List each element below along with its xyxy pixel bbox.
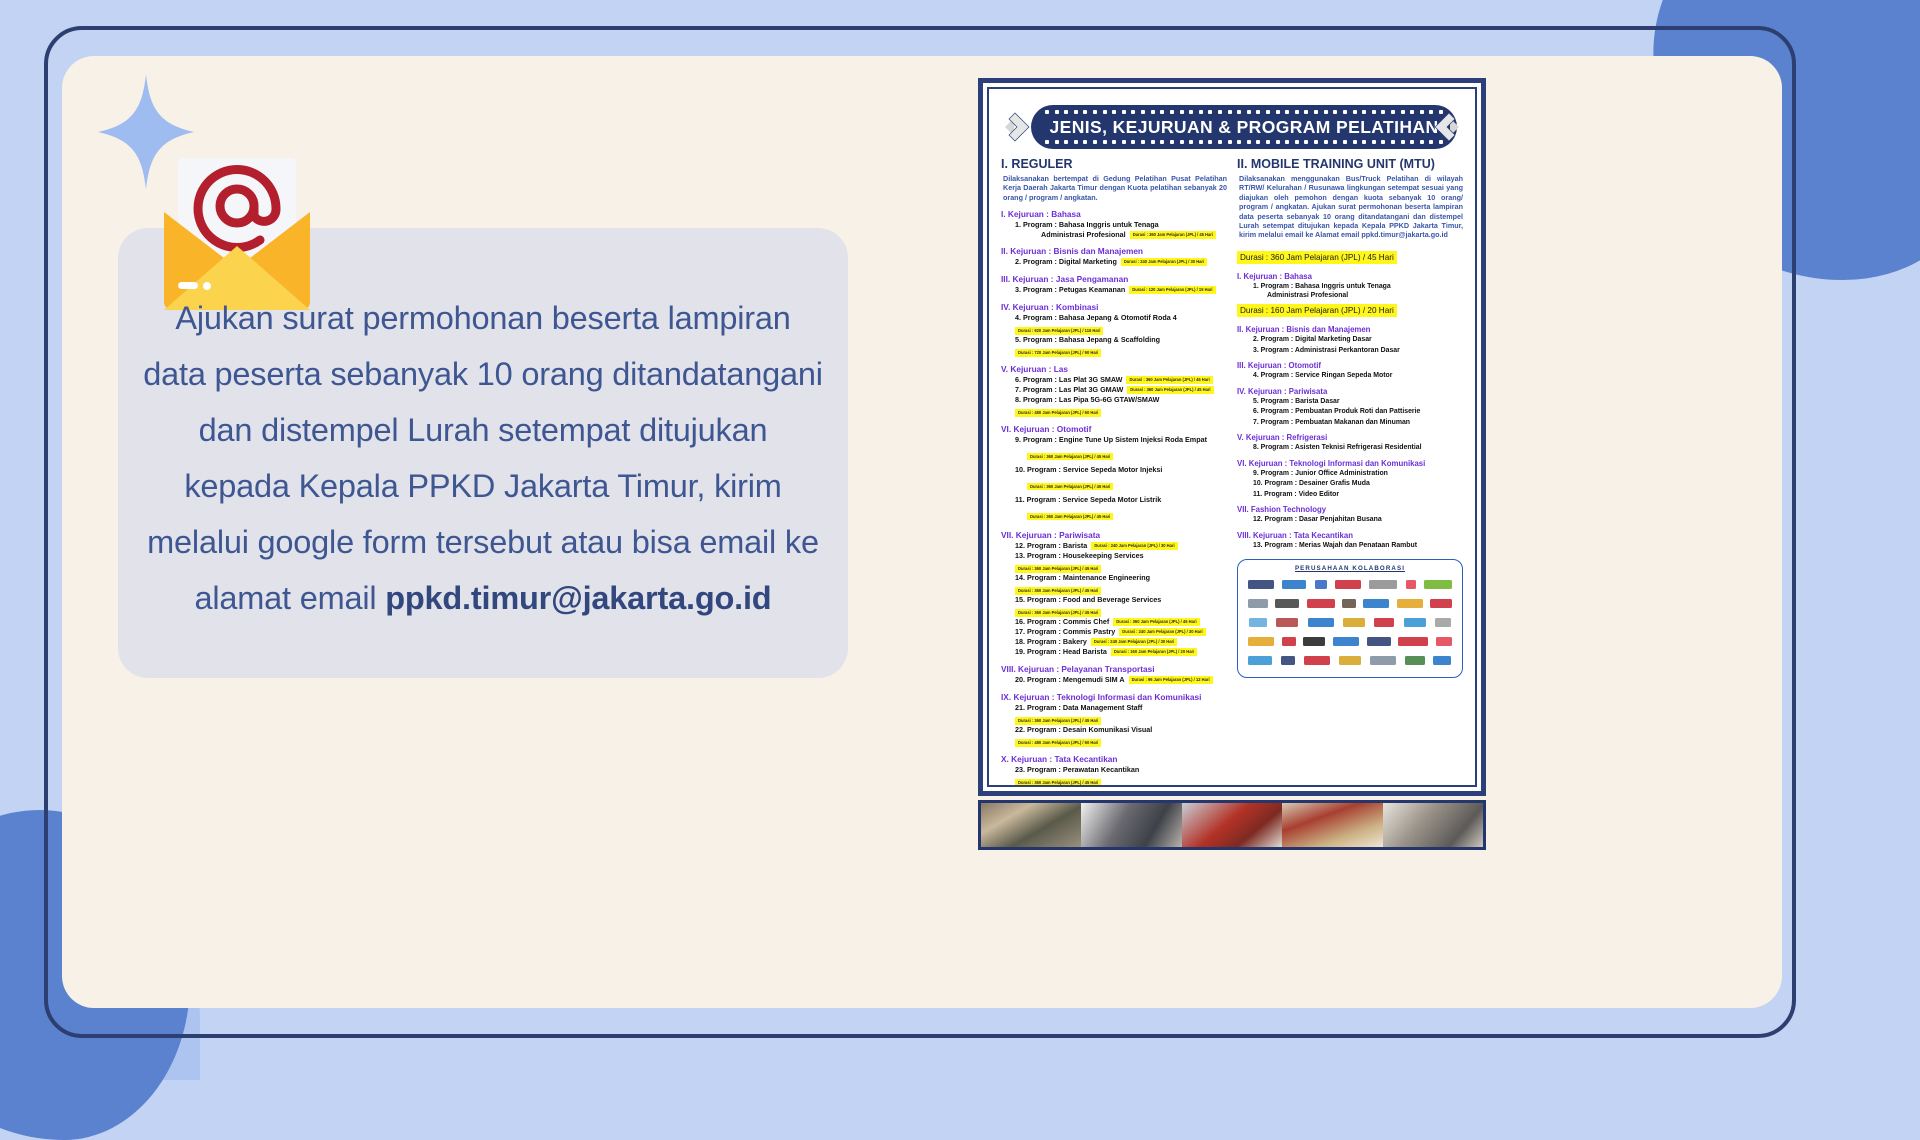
program-label: 14. Program : Maintenance Engineering bbox=[1015, 573, 1150, 583]
photo-classroom bbox=[981, 803, 1081, 847]
program-duration-badge: Durasi : 240 Jam Pelajaran (JPL) / 30 Ha… bbox=[1121, 258, 1207, 266]
program-duration-badge: Durasi : 240 Jam Pelajaran (JPL) / 30 Ha… bbox=[1119, 628, 1205, 636]
program-item: 6. Program : Las Plat 3G SMAWDurasi : 36… bbox=[1015, 375, 1227, 385]
program-label: 8. Program : Las Pipa 5G-6G GTAW/SMAW bbox=[1015, 395, 1159, 405]
program-duration-badge: Durasi : 240 Jam Pelajaran (JPL) / 30 Ha… bbox=[1091, 638, 1177, 646]
program-duration-badge: Durasi : 96 Jam Pelajaran (JPL) / 12 Har… bbox=[1129, 676, 1213, 684]
program-duration-badge: Durasi : 360 Jam Pelajaran (JPL) / 45 Ha… bbox=[1130, 231, 1216, 239]
partner-logo bbox=[1282, 637, 1296, 646]
program-item: 17. Program : Commis PastryDurasi : 240 … bbox=[1015, 627, 1227, 637]
program-label: 10. Program : Service Sepeda Motor Injek… bbox=[1015, 465, 1162, 475]
partner-logos-title: PERUSAHAAN KOLABORASI bbox=[1244, 565, 1456, 572]
email-address: ppkd.timur@jakarta.go.id bbox=[385, 580, 771, 616]
kejuruan-heading: II. Kejuruan : Bisnis dan Manajemen bbox=[1001, 246, 1227, 256]
partner-logo bbox=[1370, 656, 1396, 665]
reguler-description: Dilaksanakan bertempat di Gedung Pelatih… bbox=[1003, 174, 1227, 202]
poster-banner: JENIS, KEJURUAN & PROGRAM PELATIHAN bbox=[989, 105, 1475, 151]
program-duration-badge: Durasi : 240 Jam Pelajaran (JPL) / 30 Ha… bbox=[1091, 542, 1177, 550]
kejuruan-heading: III. Kejuruan : Jasa Pengamanan bbox=[1001, 274, 1227, 284]
program-label: 10. Program : Desainer Grafis Muda bbox=[1253, 479, 1370, 490]
partner-logo bbox=[1249, 618, 1267, 627]
program-duration-row: Durasi : 360 Jam Pelajaran (JPL) / 45 Ha… bbox=[1027, 445, 1227, 463]
partner-logo bbox=[1335, 580, 1361, 589]
poster-banner-pill: JENIS, KEJURUAN & PROGRAM PELATIHAN bbox=[1031, 105, 1457, 149]
program-duration-badge: Durasi : 160 Jam Pelajaran (JPL) / 20 Ha… bbox=[1111, 648, 1197, 656]
paragraph-line-4: kepada Kepala PPKD Jakarta Timur, kirim bbox=[130, 458, 836, 514]
program-label: 18. Program : Bakery bbox=[1015, 637, 1087, 647]
kejuruan-heading: IX. Kejuruan : Teknologi Informasi dan K… bbox=[1001, 692, 1227, 702]
mtu-durasi-1: Durasi : 360 Jam Pelajaran (JPL) / 45 Ha… bbox=[1237, 251, 1397, 264]
partner-logo bbox=[1430, 599, 1452, 608]
partner-logo bbox=[1369, 580, 1397, 589]
mtu-group-list-b: II. Kejuruan : Bisnis dan Manajemen2. Pr… bbox=[1237, 325, 1463, 551]
program-label: 11. Program : Video Editor bbox=[1253, 490, 1339, 501]
partner-logo bbox=[1374, 618, 1394, 627]
partner-logo bbox=[1363, 599, 1389, 608]
program-item: 7. Program : Las Plat 3G GMAWDurasi : 36… bbox=[1015, 385, 1227, 395]
program-item: 3. Program : Administrasi Perkantoran Da… bbox=[1253, 346, 1463, 357]
program-item: 8. Program : Asisten Teknisi Refrigerasi… bbox=[1253, 443, 1463, 454]
partner-logo bbox=[1339, 656, 1361, 665]
program-label: 6. Program : Las Plat 3G SMAW bbox=[1015, 375, 1122, 385]
program-item: 16. Program : Commis ChefDurasi : 360 Ja… bbox=[1015, 617, 1227, 627]
program-label: 5. Program : Bahasa Jepang & Scaffolding bbox=[1015, 335, 1160, 345]
program-duration-badge: Durasi : 720 Jam Pelajaran (JPL) / 90 Ha… bbox=[1015, 349, 1101, 357]
program-item: 5. Program : Barista Dasar bbox=[1253, 397, 1463, 408]
kejuruan-heading: I. Kejuruan : Bahasa bbox=[1001, 209, 1227, 219]
program-item: 13. Program : Housekeeping ServicesDuras… bbox=[1015, 551, 1227, 573]
program-item: 10. Program : Service Sepeda Motor Injek… bbox=[1015, 465, 1227, 475]
reguler-heading: I. REGULER bbox=[1001, 157, 1227, 171]
program-label: 13. Program : Housekeeping Services bbox=[1015, 551, 1144, 561]
photo-ceremony bbox=[1081, 803, 1181, 847]
program-duration-row: Durasi : 360 Jam Pelajaran (JPL) / 45 Ha… bbox=[1027, 475, 1227, 493]
partner-logos-panel: PERUSAHAAN KOLABORASI bbox=[1237, 559, 1463, 678]
program-label: 16. Program : Commis Chef bbox=[1015, 617, 1109, 627]
partner-logo-rows bbox=[1244, 576, 1456, 669]
program-label: 19. Program : Head Barista bbox=[1015, 647, 1107, 657]
poster-inner-frame: JENIS, KEJURUAN & PROGRAM PELATIHAN I. R… bbox=[987, 87, 1477, 787]
program-item: 4. Program : Bahasa Jepang & Otomotif Ro… bbox=[1015, 313, 1227, 335]
program-label: 7. Program : Pembuatan Makanan dan Minum… bbox=[1253, 418, 1410, 429]
program-item: 3. Program : Petugas KeamananDurasi : 12… bbox=[1015, 285, 1227, 295]
photo-bakery bbox=[1282, 803, 1382, 847]
message-paragraph: Ajukan surat permohonan beserta lampiran… bbox=[130, 290, 836, 626]
partner-logo bbox=[1343, 618, 1365, 627]
program-item: 22. Program : Desain Komunikasi VisualDu… bbox=[1015, 725, 1227, 747]
program-label: 6. Program : Pembuatan Produk Roti dan P… bbox=[1253, 407, 1420, 418]
program-duration-badge: Durasi : 360 Jam Pelajaran (JPL) / 45 Ha… bbox=[1015, 717, 1101, 725]
program-duration-badge: Durasi : 480 Jam Pelajaran (JPL) / 60 Ha… bbox=[1015, 409, 1101, 417]
program-item: 10. Program : Desainer Grafis Muda bbox=[1253, 479, 1463, 490]
program-item: 8. Program : Las Pipa 5G-6G GTAW/SMAWDur… bbox=[1015, 395, 1227, 417]
email-envelope-icon bbox=[142, 150, 332, 310]
partner-logo bbox=[1435, 618, 1451, 627]
poster-column-reguler: I. REGULER Dilaksanakan bertempat di Ged… bbox=[1001, 157, 1227, 787]
partner-logo bbox=[1436, 637, 1452, 646]
partner-logo bbox=[1406, 580, 1416, 589]
kejuruan-heading: VI. Kejuruan : Teknologi Informasi dan K… bbox=[1237, 459, 1463, 468]
partner-logo bbox=[1248, 580, 1274, 589]
partner-logo bbox=[1303, 637, 1325, 646]
kejuruan-heading: VIII. Kejuruan : Pelayanan Transportasi bbox=[1001, 664, 1227, 674]
partner-logo-row bbox=[1244, 614, 1456, 631]
program-item: 14. Program : Maintenance EngineeringDur… bbox=[1015, 573, 1227, 595]
program-label: 1. Program : Bahasa Inggris untuk Tenaga bbox=[1253, 282, 1391, 293]
program-label: 7. Program : Las Plat 3G GMAW bbox=[1015, 385, 1123, 395]
partner-logo bbox=[1248, 599, 1268, 608]
kejuruan-heading: IV. Kejuruan : Kombinasi bbox=[1001, 302, 1227, 312]
paragraph-line-1: Ajukan surat permohonan beserta lampiran bbox=[130, 290, 836, 346]
paragraph-line-2: data peserta sebanyak 10 orang ditandata… bbox=[130, 346, 836, 402]
program-duration-row: Durasi : 360 Jam Pelajaran (JPL) / 45 Ha… bbox=[1027, 505, 1227, 523]
program-duration-badge: Durasi : 120 Jam Pelajaran (JPL) / 15 Ha… bbox=[1129, 286, 1215, 294]
partner-logo bbox=[1405, 656, 1425, 665]
program-item: 6. Program : Pembuatan Produk Roti dan P… bbox=[1253, 407, 1463, 418]
partner-logo bbox=[1367, 637, 1391, 646]
paragraph-line-6: alamat email ppkd.timur@jakarta.go.id bbox=[130, 570, 836, 626]
kejuruan-heading: I. Kejuruan : Bahasa bbox=[1237, 272, 1463, 281]
kejuruan-heading: VII. Kejuruan : Pariwisata bbox=[1001, 530, 1227, 540]
program-item: 1. Program : Bahasa Inggris untuk Tenaga bbox=[1015, 220, 1227, 230]
program-label: 9. Program : Junior Office Administratio… bbox=[1253, 469, 1388, 480]
program-label: 12. Program : Barista bbox=[1015, 541, 1087, 551]
program-label-continued-text: Administrasi Profesional bbox=[1041, 230, 1126, 239]
banner-dots-top bbox=[1045, 110, 1443, 114]
photo-workshop bbox=[1182, 803, 1282, 847]
partner-logo bbox=[1404, 618, 1426, 627]
program-label: 12. Program : Dasar Penjahitan Busana bbox=[1253, 515, 1382, 526]
program-duration-badge: Durasi : 360 Jam Pelajaran (JPL) / 45 Ha… bbox=[1015, 565, 1101, 573]
program-label: 17. Program : Commis Pastry bbox=[1015, 627, 1115, 637]
program-label: 23. Program : Perawatan Kecantikan bbox=[1015, 765, 1139, 775]
kejuruan-heading: VI. Kejuruan : Otomotif bbox=[1001, 424, 1227, 434]
program-duration-badge: Durasi : 480 Jam Pelajaran (JPL) / 60 Ha… bbox=[1015, 739, 1101, 747]
program-duration-badge: Durasi : 360 Jam Pelajaran (JPL) / 45 Ha… bbox=[1126, 376, 1212, 384]
partner-logo bbox=[1398, 637, 1428, 646]
program-label: 15. Program : Food and Beverage Services bbox=[1015, 595, 1161, 605]
partner-logo bbox=[1433, 656, 1451, 665]
program-item: 15. Program : Food and Beverage Services… bbox=[1015, 595, 1227, 617]
chevron-left-decor-icon bbox=[1001, 109, 1037, 145]
program-label-continued: Administrasi Profesional bbox=[1267, 292, 1463, 299]
partner-logo bbox=[1342, 599, 1356, 608]
program-label: 1. Program : Bahasa Inggris untuk Tenaga bbox=[1015, 220, 1159, 230]
program-item: 12. Program : BaristaDurasi : 240 Jam Pe… bbox=[1015, 541, 1227, 551]
partner-logo bbox=[1424, 580, 1452, 589]
program-duration-badge: Durasi : 360 Jam Pelajaran (JPL) / 45 Ha… bbox=[1027, 513, 1113, 520]
partner-logo-row bbox=[1244, 595, 1456, 612]
program-item: 21. Program : Data Management StaffDuras… bbox=[1015, 703, 1227, 725]
poster-columns: I. REGULER Dilaksanakan bertempat di Ged… bbox=[1001, 157, 1463, 787]
program-duration-badge: Durasi : 360 Jam Pelajaran (JPL) / 45 Ha… bbox=[1027, 453, 1113, 460]
program-label: 8. Program : Asisten Teknisi Refrigerasi… bbox=[1253, 443, 1422, 454]
poster-photo-strip bbox=[978, 800, 1486, 850]
mtu-description: Dilaksanakan menggunakan Bus/Truck Pelat… bbox=[1239, 174, 1463, 240]
partner-logo bbox=[1307, 599, 1335, 608]
program-label: 2. Program : Digital Marketing Dasar bbox=[1253, 335, 1372, 346]
email-label: alamat email bbox=[195, 580, 386, 616]
program-label: 3. Program : Petugas Keamanan bbox=[1015, 285, 1125, 295]
program-label-continued-text: Administrasi Profesional bbox=[1267, 292, 1348, 299]
banner-dots-bottom bbox=[1045, 140, 1443, 144]
program-item: 19. Program : Head BaristaDurasi : 160 J… bbox=[1015, 647, 1227, 657]
program-item: 23. Program : Perawatan KecantikanDurasi… bbox=[1015, 765, 1227, 787]
kejuruan-heading: V. Kejuruan : Las bbox=[1001, 364, 1227, 374]
program-item: 5. Program : Bahasa Jepang & Scaffolding… bbox=[1015, 335, 1227, 357]
program-duration-badge: Durasi : 920 Jam Pelajaran (JPL) / 115 H… bbox=[1015, 327, 1103, 335]
program-item: 7. Program : Pembuatan Makanan dan Minum… bbox=[1253, 418, 1463, 429]
mtu-group-list-a: I. Kejuruan : Bahasa1. Program : Bahasa … bbox=[1237, 272, 1463, 300]
partner-logo bbox=[1282, 580, 1306, 589]
program-label-continued: Administrasi ProfesionalDurasi : 360 Jam… bbox=[1041, 230, 1227, 239]
mtu-heading: II. MOBILE TRAINING UNIT (MTU) bbox=[1237, 157, 1463, 171]
program-duration-badge: Durasi : 360 Jam Pelajaran (JPL) / 45 Ha… bbox=[1015, 609, 1101, 617]
partner-logo bbox=[1397, 599, 1423, 608]
partner-logo-row bbox=[1244, 576, 1456, 593]
program-label: 9. Program : Engine Tune Up Sistem Injek… bbox=[1015, 435, 1207, 445]
program-item: 18. Program : BakeryDurasi : 240 Jam Pel… bbox=[1015, 637, 1227, 647]
program-label: 4. Program : Bahasa Jepang & Otomotif Ro… bbox=[1015, 313, 1177, 323]
program-duration-badge: Durasi : 360 Jam Pelajaran (JPL) / 45 Ha… bbox=[1015, 779, 1101, 787]
program-item: 2. Program : Digital Marketing Dasar bbox=[1253, 335, 1463, 346]
partner-logo bbox=[1248, 637, 1274, 646]
program-label: 2. Program : Digital Marketing bbox=[1015, 257, 1117, 267]
program-item: 13. Program : Merias Wajah dan Penataan … bbox=[1253, 541, 1463, 552]
program-item: 4. Program : Service Ringan Sepeda Motor bbox=[1253, 371, 1463, 382]
photo-training-room bbox=[1383, 803, 1483, 847]
program-label: 22. Program : Desain Komunikasi Visual bbox=[1015, 725, 1152, 735]
program-label: 5. Program : Barista Dasar bbox=[1253, 397, 1340, 408]
partner-logo-row bbox=[1244, 633, 1456, 650]
partner-logo bbox=[1333, 637, 1359, 646]
kejuruan-heading: VIII. Kejuruan : Tata Kecantikan bbox=[1237, 531, 1463, 540]
kejuruan-heading: IV. Kejuruan : Pariwisata bbox=[1237, 387, 1463, 396]
program-item: 1. Program : Bahasa Inggris untuk Tenaga bbox=[1253, 282, 1463, 293]
kejuruan-heading: VII. Fashion Technology bbox=[1237, 505, 1463, 514]
partner-logo bbox=[1304, 656, 1330, 665]
program-duration-badge: Durasi : 360 Jam Pelajaran (JPL) / 45 Ha… bbox=[1113, 618, 1199, 626]
partner-logo-row bbox=[1244, 652, 1456, 669]
program-item: 20. Program : Mengemudi SIM ADurasi : 96… bbox=[1015, 675, 1227, 685]
kejuruan-heading: V. Kejuruan : Refrigerasi bbox=[1237, 433, 1463, 442]
program-item: 2. Program : Digital MarketingDurasi : 2… bbox=[1015, 257, 1227, 267]
training-program-poster: JENIS, KEJURUAN & PROGRAM PELATIHAN I. R… bbox=[978, 78, 1486, 796]
paragraph-line-3: dan distempel Lurah setempat ditujukan bbox=[130, 402, 836, 458]
kejuruan-heading: II. Kejuruan : Bisnis dan Manajemen bbox=[1237, 325, 1463, 334]
kejuruan-heading: III. Kejuruan : Otomotif bbox=[1237, 361, 1463, 370]
mtu-durasi-2: Durasi : 160 Jam Pelajaran (JPL) / 20 Ha… bbox=[1237, 304, 1397, 317]
program-duration-badge: Durasi : 360 Jam Pelajaran (JPL) / 45 Ha… bbox=[1127, 386, 1213, 394]
partner-logo bbox=[1248, 656, 1272, 665]
reguler-group-list: I. Kejuruan : Bahasa1. Program : Bahasa … bbox=[1001, 209, 1227, 787]
partner-logo bbox=[1281, 656, 1295, 665]
program-label: 21. Program : Data Management Staff bbox=[1015, 703, 1142, 713]
kejuruan-heading: X. Kejuruan : Tata Kecantikan bbox=[1001, 754, 1227, 764]
program-item: 11. Program : Video Editor bbox=[1253, 490, 1463, 501]
paragraph-line-5: melalui google form tersebut atau bisa e… bbox=[130, 514, 836, 570]
program-item: 11. Program : Service Sepeda Motor Listr… bbox=[1015, 495, 1227, 505]
partner-logo bbox=[1315, 580, 1327, 589]
partner-logo bbox=[1308, 618, 1334, 627]
program-label: 13. Program : Merias Wajah dan Penataan … bbox=[1253, 541, 1417, 552]
poster-column-mtu: II. MOBILE TRAINING UNIT (MTU) Dilaksana… bbox=[1237, 157, 1463, 787]
program-duration-badge: Durasi : 360 Jam Pelajaran (JPL) / 45 Ha… bbox=[1027, 483, 1113, 490]
program-item: 9. Program : Engine Tune Up Sistem Injek… bbox=[1015, 435, 1227, 445]
program-label: 11. Program : Service Sepeda Motor Listr… bbox=[1015, 495, 1161, 505]
program-duration-badge: Durasi : 360 Jam Pelajaran (JPL) / 45 Ha… bbox=[1015, 587, 1101, 595]
poster-title: JENIS, KEJURUAN & PROGRAM PELATIHAN bbox=[1050, 117, 1439, 138]
program-label: 20. Program : Mengemudi SIM A bbox=[1015, 675, 1125, 685]
partner-logo bbox=[1276, 618, 1298, 627]
program-item: 9. Program : Junior Office Administratio… bbox=[1253, 469, 1463, 480]
chevron-right-decor-icon bbox=[1427, 109, 1463, 145]
program-item: 12. Program : Dasar Penjahitan Busana bbox=[1253, 515, 1463, 526]
program-label: 3. Program : Administrasi Perkantoran Da… bbox=[1253, 346, 1400, 357]
partner-logo bbox=[1275, 599, 1299, 608]
program-label: 4. Program : Service Ringan Sepeda Motor bbox=[1253, 371, 1392, 382]
